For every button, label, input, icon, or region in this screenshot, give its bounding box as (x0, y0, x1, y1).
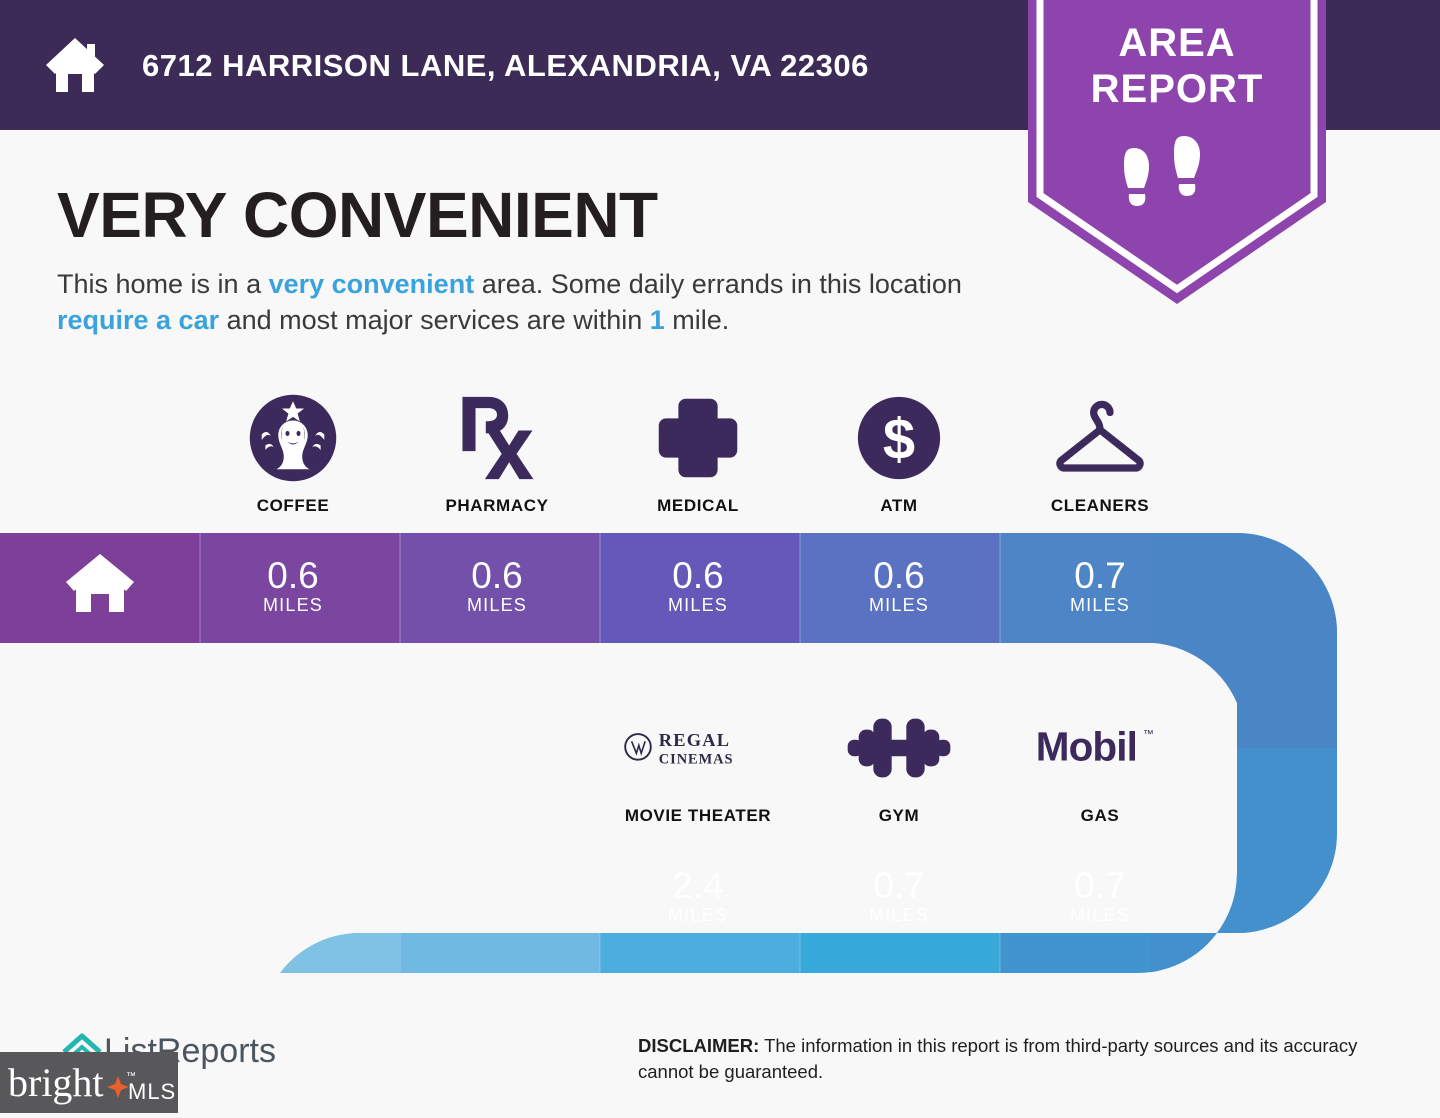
bright-mls-watermark: bright ™ MLS (0, 1052, 178, 1113)
amenity-label: PHARMACY (397, 496, 597, 516)
amenity-pharmacy: PHARMACY (397, 390, 597, 516)
rx-pharmacy-icon (397, 390, 597, 486)
svg-text:bright: bright (8, 1060, 104, 1105)
starbucks-coffee-icon (193, 390, 393, 486)
amenity-atm: $ ATM (799, 390, 999, 516)
amenity-medical: MEDICAL (598, 390, 798, 516)
desc-highlight-2: require a car (57, 305, 219, 335)
desc-text-2: area. Some daily errands in this locatio… (474, 269, 962, 299)
amenity-label: COFFEE (193, 496, 393, 516)
amenity-label: CLEANERS (1000, 496, 1200, 516)
svg-text:™: ™ (1143, 728, 1154, 740)
dumbbell-gym-icon (799, 700, 999, 796)
svg-text:Mobil: Mobil (1036, 723, 1137, 769)
header-address: 6712 HARRISON LANE, ALEXANDRIA, VA 22306 (142, 48, 869, 84)
svg-text:CINEMAS: CINEMAS (659, 751, 734, 767)
desc-highlight-3: 1 (650, 305, 665, 335)
mobil-gas-icon: Mobil ™ (1000, 700, 1200, 796)
desc-text-3: and most major services are within (219, 305, 650, 335)
dollar-atm-icon: $ (799, 390, 999, 486)
home-icon (44, 36, 106, 94)
amenity-cleaners: CLEANERS (1000, 390, 1200, 516)
amenity-gas: Mobil ™ GAS (1000, 700, 1200, 826)
disclaimer-label: DISCLAIMER: (638, 1035, 759, 1056)
hero-description: This home is in a very convenient area. … (57, 266, 1017, 338)
amenity-gym: GYM (799, 700, 999, 826)
amenity-movie-theater: REGAL CINEMAS MOVIE THEATER (598, 700, 798, 826)
desc-highlight-1: very convenient (269, 269, 475, 299)
disclaimer: DISCLAIMER: The information in this repo… (638, 1033, 1390, 1085)
svg-text:REGAL: REGAL (659, 730, 730, 750)
desc-text-1: This home is in a (57, 269, 269, 299)
amenity-label: GAS (1000, 806, 1200, 826)
area-report-badge: AREA REPORT (1028, 0, 1326, 304)
svg-text:MLS: MLS (128, 1079, 176, 1104)
amenity-label: ATM (799, 496, 999, 516)
hanger-cleaners-icon (1000, 390, 1200, 486)
desc-text-4: mile. (665, 305, 730, 335)
amenity-label: MOVIE THEATER (598, 806, 798, 826)
amenity-coffee: COFFEE (193, 390, 393, 516)
regal-cinemas-icon: REGAL CINEMAS (598, 700, 798, 796)
home-icon (64, 552, 136, 614)
svg-text:$: $ (883, 408, 915, 472)
amenity-label: GYM (799, 806, 999, 826)
page-title: VERY CONVENIENT (57, 178, 658, 252)
medical-cross-icon (598, 390, 798, 486)
footprints-icon (1116, 134, 1236, 212)
amenity-label: MEDICAL (598, 496, 798, 516)
